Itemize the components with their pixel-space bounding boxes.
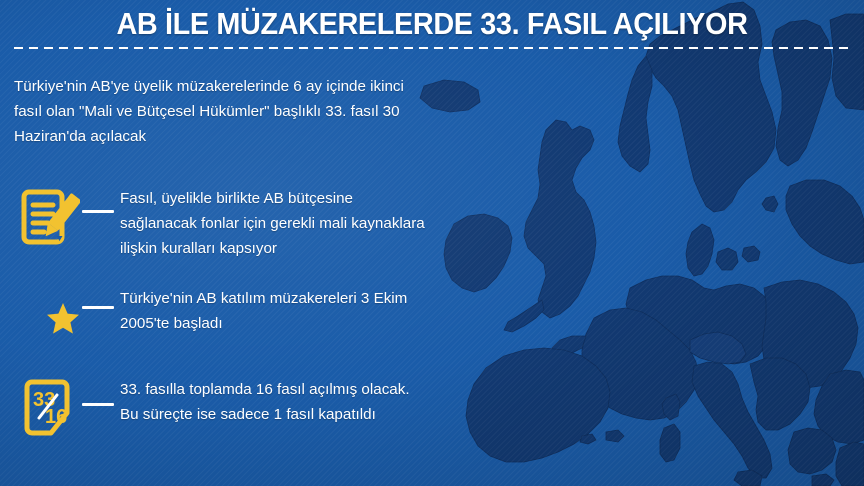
- list-item: Türkiye'nin AB katılım müzakereleri 3 Ek…: [0, 282, 430, 352]
- bullet-text-content: 33. fasılla toplamda 16 fasıl açılmış ol…: [120, 377, 430, 427]
- bullet-text-content: Türkiye'nin AB katılım müzakereleri 3 Ek…: [120, 286, 430, 336]
- infographic-page: AB İLE MÜZAKERELERDE 33. FASIL AÇILIYOR …: [0, 0, 864, 486]
- bullet-text: Türkiye'nin AB katılım müzakereleri 3 Ek…: [120, 282, 430, 336]
- bullet-text: 33. fasılla toplamda 16 fasıl açılmış ol…: [120, 373, 430, 427]
- header-dashed-divider: [14, 47, 850, 49]
- bullet-list: Fasıl, üyelikle birlikte AB bütçesine sa…: [0, 182, 430, 464]
- intro-text: Türkiye'nin AB'ye üyelik müzakerelerinde…: [14, 74, 406, 149]
- bullet-connector-line: [82, 403, 114, 406]
- crescent-star-icon: [12, 282, 86, 352]
- list-item: Fasıl, üyelikle birlikte AB bütçesine sa…: [0, 182, 430, 261]
- list-item: 33 16 33. fasılla toplamda 16 fasıl açıl…: [0, 373, 430, 443]
- bullet-text: Fasıl, üyelikle birlikte AB bütçesine sa…: [120, 182, 430, 261]
- europe-map: [394, 0, 864, 486]
- notepad-pencil-icon: [12, 182, 86, 252]
- bullet-connector-line: [82, 210, 114, 213]
- page-title: AB İLE MÜZAKERELERDE 33. FASIL AÇILIYOR: [30, 4, 834, 44]
- intro-paragraph: Türkiye'nin AB'ye üyelik müzakerelerinde…: [14, 74, 406, 149]
- bullet-text-content: Fasıl, üyelikle birlikte AB bütçesine sa…: [120, 186, 430, 261]
- icon-denominator: 16: [45, 406, 67, 428]
- header: AB İLE MÜZAKERELERDE 33. FASIL AÇILIYOR: [0, 0, 864, 56]
- bullet-connector-line: [82, 306, 114, 309]
- chapters-ratio-icon: 33 16: [12, 373, 86, 443]
